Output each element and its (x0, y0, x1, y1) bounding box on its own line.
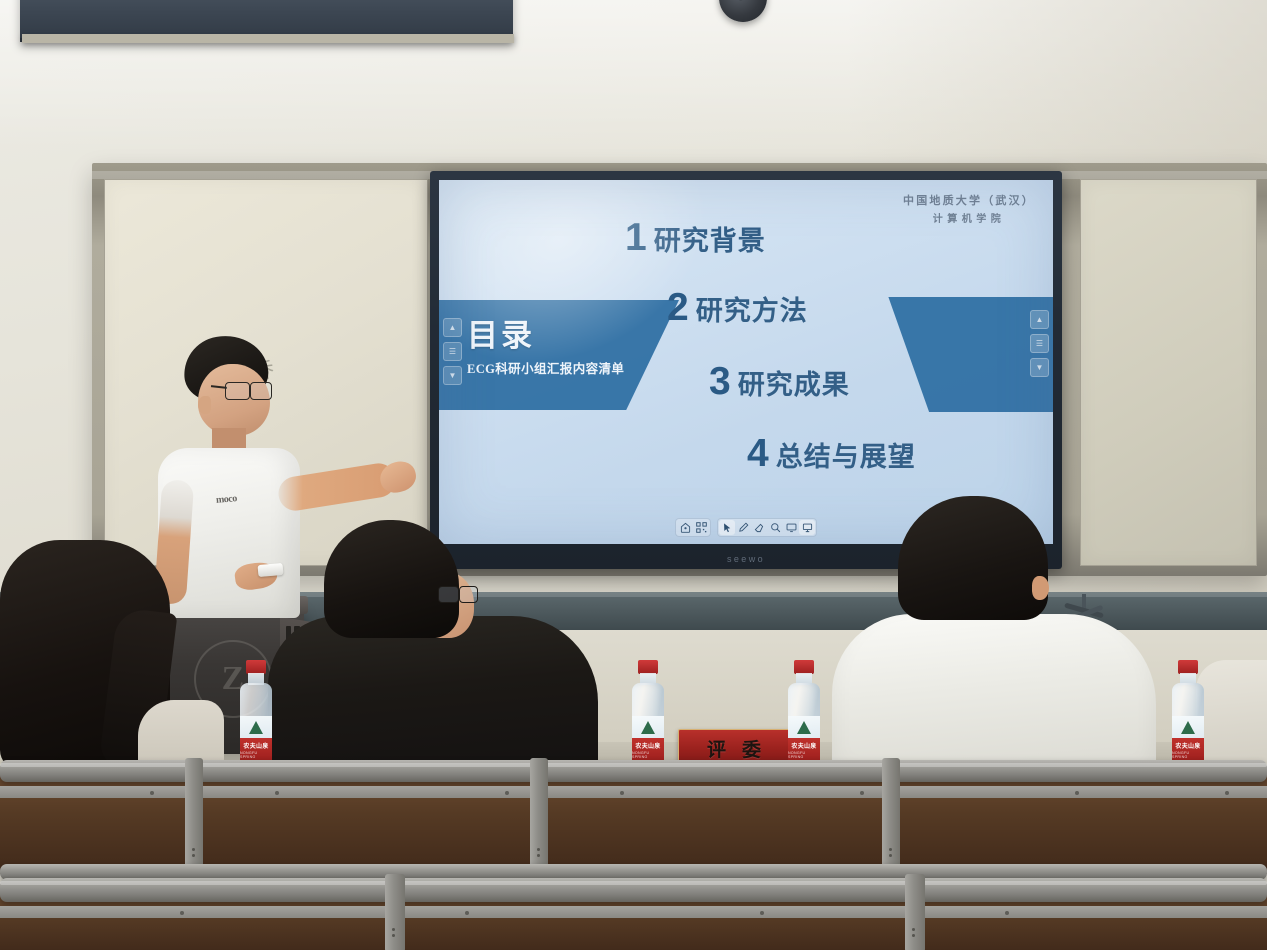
screen-side-buttons-left[interactable]: ▲ ☰ ▼ (443, 318, 462, 385)
screen-icon[interactable] (783, 520, 799, 535)
chevron-up-icon[interactable]: ▲ (1030, 310, 1049, 329)
agenda-item-4: 4 总结与展望 (747, 434, 916, 474)
chevron-up-icon[interactable]: ▲ (443, 318, 462, 337)
bench-post (530, 758, 548, 876)
camera-lens (731, 0, 752, 2)
glasses-lens-right (250, 382, 272, 400)
audience-3-hair (898, 496, 1048, 620)
bottle-brand-en: NONGFU SPRING (240, 751, 272, 759)
bench-wooden-back (0, 894, 1267, 950)
agenda-label: 研究背景 (654, 219, 766, 258)
lecture-hall-photo: 乔 中国地质大学（武汉） 计算机学院 目录 ECG科研小组汇报内容清单 (0, 0, 1267, 950)
agenda-label: 研究成果 (738, 363, 850, 402)
bench-post (882, 758, 900, 876)
chevron-down-icon[interactable]: ▼ (443, 366, 462, 385)
bench-metal-strip (0, 906, 1267, 918)
bottle-label-upper (1172, 716, 1204, 738)
agenda-label: 总结与展望 (776, 435, 916, 474)
screen-side-buttons-right[interactable]: ▲ ☰ ▼ (1030, 310, 1049, 377)
agenda-number: 3 (709, 362, 731, 401)
mountain-icon (1181, 721, 1195, 734)
rail-highlight (0, 881, 1267, 885)
bottle-label-lower: 农夫山泉 NONGFU SPRING (240, 738, 272, 762)
bottle-cap (1178, 660, 1198, 674)
eraser-icon[interactable] (751, 520, 767, 535)
mountain-icon (249, 721, 263, 734)
bottle-brand-en: NONGFU SPRING (1172, 751, 1204, 759)
presenter-ear (198, 396, 211, 414)
nameplate-char-2: 委 (742, 735, 761, 762)
glasses-lens-right (459, 586, 478, 603)
bottle-label-upper (788, 716, 820, 738)
glasses-lens-left (225, 382, 250, 400)
magnifier-icon[interactable] (767, 520, 783, 535)
presenter-glasses (225, 382, 273, 400)
pen-icon[interactable] (735, 520, 751, 535)
audience-member-2 (268, 520, 608, 790)
tools-icon[interactable] (799, 520, 815, 535)
bottle-brand-en: NONGFU SPRING (632, 751, 664, 759)
agenda-item-3: 3 研究成果 (709, 362, 850, 402)
agenda-label: 研究方法 (696, 289, 808, 328)
bench-post (385, 874, 405, 950)
agenda-number: 2 (667, 288, 689, 327)
bottle-brand-cn: 农夫山泉 (791, 741, 816, 750)
slide-agenda-list: 1 研究背景 2 研究方法 3 研究成果 4 总结与展望 (439, 180, 1053, 544)
bottle-cap (246, 660, 266, 674)
chevron-down-icon[interactable]: ▼ (1030, 358, 1049, 377)
bottle-brand-en: NONGFU SPRING (788, 751, 820, 759)
bench-post (905, 874, 925, 950)
bottle-brand-cn: 农夫山泉 (635, 741, 660, 750)
agenda-item-1: 1 研究背景 (625, 218, 766, 258)
glasses-lens-left (438, 586, 459, 603)
agenda-number: 4 (747, 434, 769, 473)
bottle-brand-cn: 农夫山泉 (243, 741, 268, 750)
bench-top-rail (0, 878, 1267, 902)
toolbar-group-system[interactable] (675, 518, 711, 537)
bottle-label-upper (240, 716, 272, 738)
display-screen[interactable]: 中国地质大学（武汉） 计算机学院 目录 ECG科研小组汇报内容清单 1 研究背景 (439, 180, 1053, 544)
audience-member-3 (828, 496, 1168, 786)
bottle-label-lower: 农夫山泉 NONGFU SPRING (1172, 738, 1204, 762)
cursor-icon[interactable] (719, 520, 735, 535)
menu-icon[interactable]: ☰ (1030, 334, 1049, 353)
bottle-label-upper (632, 716, 664, 738)
toolbar-group-tools[interactable] (717, 518, 817, 537)
qr-code-icon[interactable] (693, 520, 709, 535)
audience-2-glasses (438, 586, 478, 603)
audience-2-hair (324, 520, 459, 638)
display-brand-logo: seewo (727, 554, 765, 564)
bench-post (185, 758, 203, 876)
agenda-number: 1 (625, 218, 647, 257)
nameplate-char-1: 评 (707, 735, 726, 762)
bottle-cap (638, 660, 658, 674)
audience-3-ear (1032, 576, 1049, 600)
mountain-icon (641, 721, 655, 734)
menu-icon[interactable]: ☰ (443, 342, 462, 361)
tshirt-logo: moco (216, 493, 238, 506)
display-annotation-toolbar[interactable] (675, 518, 817, 537)
audience-3-shirt (832, 614, 1156, 784)
bottle-label-lower: 农夫山泉 NONGFU SPRING (632, 738, 664, 762)
mountain-icon (797, 721, 811, 734)
audience-member-1 (0, 540, 205, 790)
bottle-cap (794, 660, 814, 674)
agenda-item-2: 2 研究方法 (667, 288, 808, 328)
bottle-brand-cn: 农夫山泉 (1175, 741, 1200, 750)
home-icon[interactable] (677, 520, 693, 535)
ceiling-unit-shadow (22, 34, 514, 43)
bottle-label-lower: 农夫山泉 NONGFU SPRING (788, 738, 820, 762)
